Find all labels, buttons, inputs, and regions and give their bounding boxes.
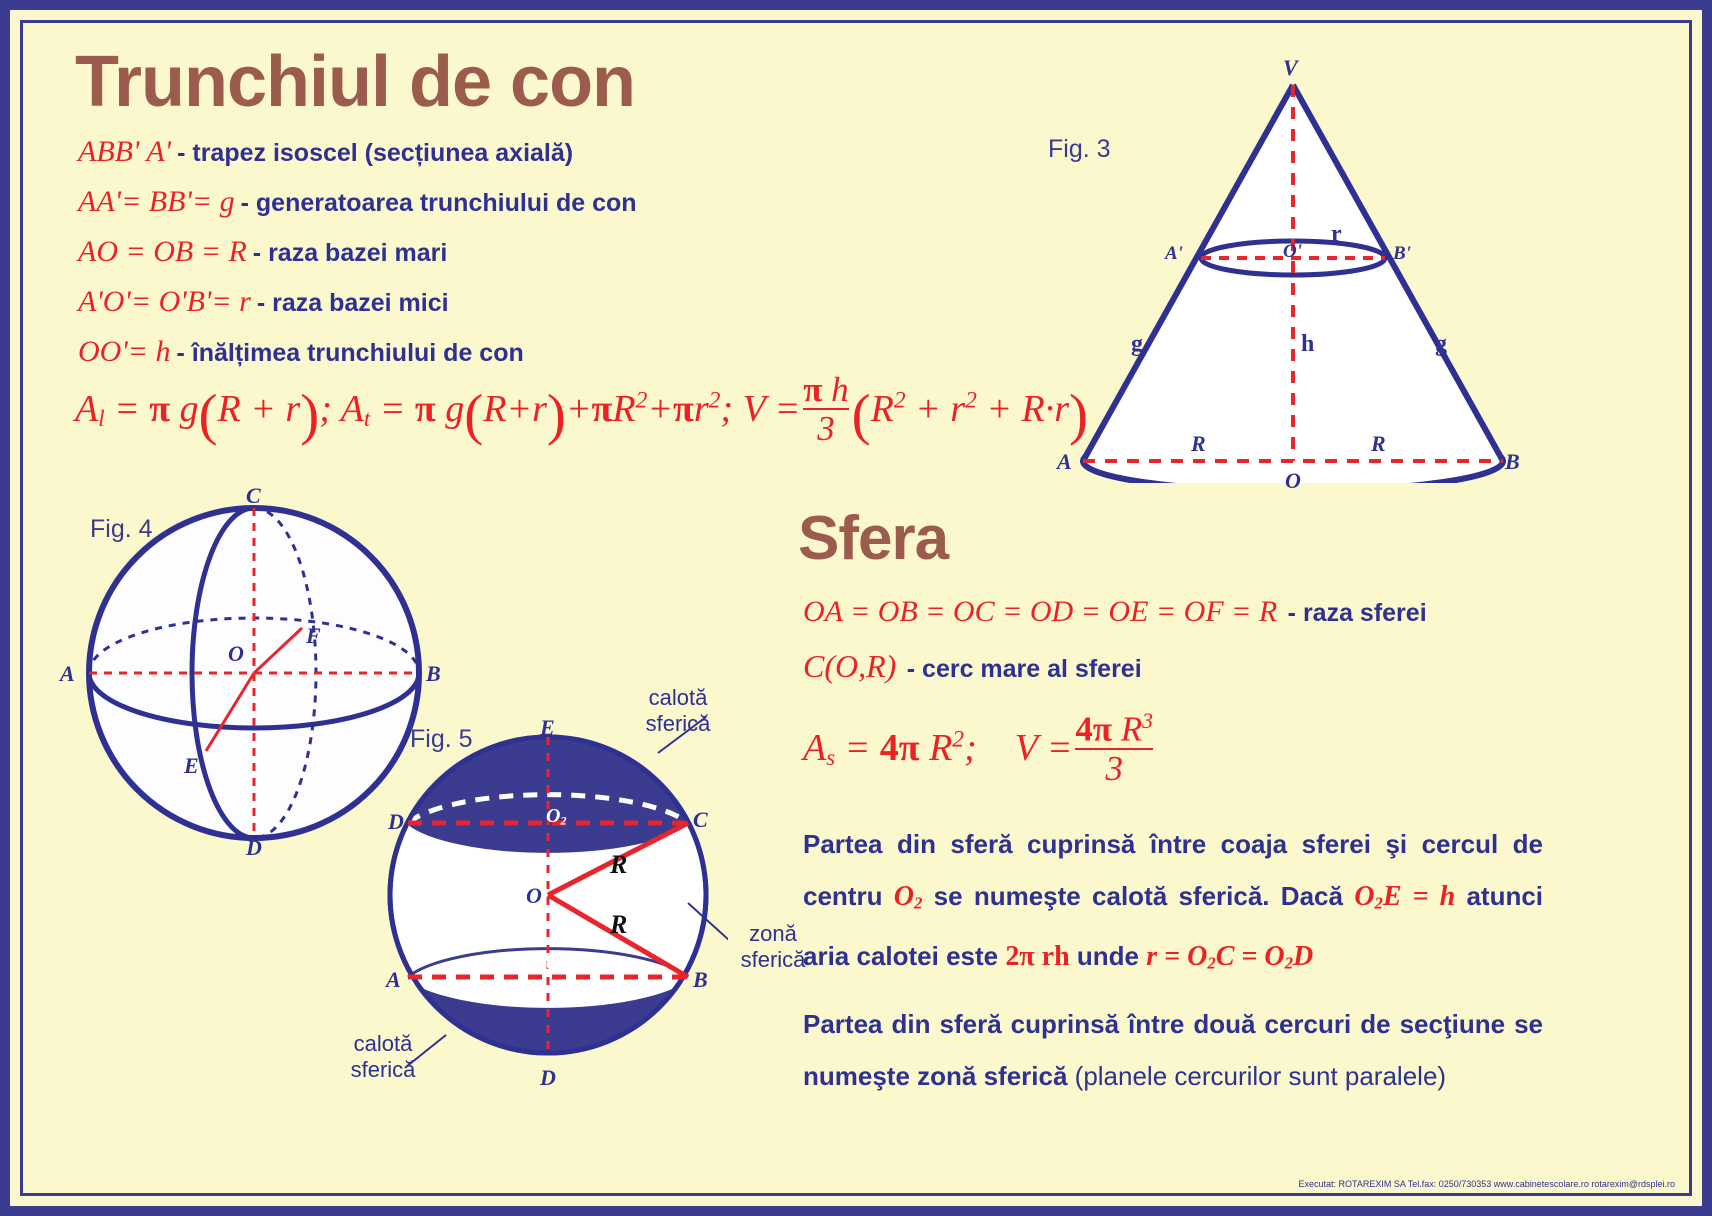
fig3-point-V: V	[1283, 55, 1298, 81]
figure-3-caption: Fig. 3	[1048, 135, 1111, 164]
formula-R-squared: R2	[612, 388, 647, 430]
formula-r: r	[532, 388, 547, 430]
definition-text: - raza bazei mari	[253, 239, 448, 268]
fig4-point-E: E	[184, 753, 199, 779]
footer-credit: Executat: ROTAREXIM SA Tel.fax: 0250/730…	[1299, 1179, 1675, 1189]
formula-paren: )	[300, 384, 319, 447]
fig3-point-B: B	[1505, 449, 1520, 475]
fig5-point-D-bottom: D	[540, 1065, 556, 1091]
fraction-numerator: 4π R3	[1075, 711, 1153, 748]
definition-symbol: A'O'= O'B'= r	[78, 285, 251, 319]
poster-frame: Trunchiul de con ABB' A' - trapez isosce…	[0, 0, 1712, 1216]
definition-symbol: OA = OB = OC = OD = OE = OF = R	[803, 595, 1277, 628]
fig5-point-O: O	[526, 883, 542, 909]
definition-item: A'O'= O'B'= r - raza bazei mici	[78, 285, 818, 335]
fig3-svg	[953, 43, 1513, 483]
annotation-line-2: sferică	[618, 711, 738, 737]
fig5-dim-R-lower: R	[610, 910, 627, 940]
fig3-dim-g-right: g	[1435, 331, 1447, 358]
formula-g: g	[180, 388, 199, 430]
sphere-formula: As = 4π R2; V =4π R33	[803, 713, 1156, 789]
definition-item: AO = OB = R - raza bazei mari	[78, 235, 818, 285]
formula-R: R	[218, 388, 241, 430]
definition-symbol: ABB' A'	[78, 135, 171, 169]
figure-4-caption: Fig. 4	[90, 515, 153, 544]
fig5-point-D-top: D	[388, 809, 404, 835]
formula-paren: )	[547, 384, 566, 447]
formula-g: g	[445, 388, 464, 430]
fig3-point-O-prime: O'	[1283, 241, 1302, 263]
formula-paren: (	[464, 384, 483, 447]
fraction-numerator: π h	[803, 373, 848, 408]
fig5-point-B: B	[693, 967, 708, 993]
paragraph-text-2: se numeşte calotă sferică. Dacă	[922, 881, 1354, 911]
inline-math-O2E-h: O2E = h	[1354, 881, 1455, 912]
definition-item: AA'= BB'= g - generatoarea trunchiului d…	[78, 185, 818, 235]
page-title-sphere: Sfera	[798, 503, 948, 574]
formula-V: V	[1015, 727, 1038, 769]
fig3-dim-g-left: g	[1131, 331, 1143, 358]
inline-math-r-O2C-O2D: r = O2C = O2D	[1146, 941, 1313, 972]
formula-fraction-4piR3-over-3: 4π R33	[1075, 711, 1153, 787]
formula-pi: π	[592, 388, 613, 430]
formula-eq: =	[775, 388, 801, 430]
formula-R-squared: R2	[929, 727, 964, 769]
formula-plus: +	[566, 388, 592, 430]
fig5-point-O1: O1	[546, 953, 566, 977]
formula-symbol-At: At	[341, 388, 371, 430]
formula-R-squared: R2	[871, 388, 906, 430]
fig3-point-O: O	[1285, 468, 1301, 494]
formula-eq: =	[845, 727, 871, 769]
definition-text: - înălțimea trunchiului de con	[177, 339, 524, 368]
paragraph-text-4: unde	[1070, 941, 1147, 971]
definition-text: - cerc mare al sferei	[907, 655, 1142, 683]
formula-semicolon: ;	[319, 388, 332, 430]
formula-V: V	[743, 388, 766, 430]
definition-symbol: C(O,R)	[803, 648, 896, 684]
annotation-calota-sferica-top: calotă sferică	[618, 685, 738, 737]
formula-plus: +	[647, 388, 673, 430]
figure-5-caption: Fig. 5	[410, 725, 473, 754]
annotation-line-1: calotă	[618, 685, 738, 711]
fig3-point-A-prime: A'	[1165, 243, 1183, 265]
cone-formula: Al = π g(R + r); At = π g(R+r)+πR2+πr2; …	[75, 375, 1088, 450]
formula-pi: π	[149, 388, 170, 430]
inline-math-O2: O2	[894, 881, 923, 912]
sphere-definition-radius: OA = OB = OC = OD = OE = OF = R - raza s…	[803, 595, 1427, 629]
fig4-point-F: F	[306, 623, 321, 649]
formula-r: r	[285, 388, 300, 430]
paragraph-text-2: (planele cercurilor sunt paralele)	[1075, 1061, 1446, 1091]
fig3-point-B-prime: B'	[1393, 243, 1411, 265]
formula-plus: +	[250, 388, 276, 430]
definition-symbol: AA'= BB'= g	[78, 185, 235, 219]
fig5-point-O2: O2	[546, 805, 566, 829]
fraction-denominator: 3	[1075, 748, 1153, 788]
fig4-point-A: A	[60, 661, 75, 687]
formula-semicolon: ;	[720, 388, 733, 430]
sphere-paragraph-zone: Partea din sferă cuprinsă între două cer…	[803, 998, 1543, 1102]
formula-symbol-Al: Al	[75, 388, 105, 430]
page-title-cone: Trunchiul de con	[75, 41, 635, 123]
definition-text: - trapez isoscel (secțiunea axială)	[177, 139, 573, 168]
definition-text: - raza sferei	[1288, 599, 1427, 627]
definition-symbol: AO = OB = R	[78, 235, 247, 269]
definition-symbol: OO'= h	[78, 335, 171, 369]
formula-paren: (	[852, 384, 871, 447]
fig3-dim-R-right: R	[1371, 431, 1386, 457]
formula-eq: =	[1047, 727, 1073, 769]
annotation-calota-sferica-bottom: calotă sferică	[328, 1031, 438, 1083]
formula-eq: =	[114, 388, 140, 430]
fig5-point-E: E	[540, 715, 555, 741]
sphere-paragraph-cap: Partea din sferă cuprinsă între coaja sf…	[803, 818, 1543, 989]
definition-text: - raza bazei mici	[257, 289, 449, 318]
fig3-dim-R-left: R	[1191, 431, 1206, 457]
fig4-point-O: O	[228, 641, 244, 667]
fig4-point-D: D	[246, 835, 262, 861]
formula-eq: =	[380, 388, 406, 430]
formula-fraction-pi-h-over-3: π h3	[803, 373, 848, 448]
fig3-point-A: A	[1057, 449, 1072, 475]
formula-pi: π	[415, 388, 436, 430]
definition-item: ABB' A' - trapez isoscel (secțiunea axia…	[78, 135, 818, 185]
formula-pi: π	[673, 388, 694, 430]
sphere-definition-great-circle: C(O,R) - cerc mare al sferei	[803, 648, 1142, 685]
formula-plus: +	[506, 388, 532, 430]
figure-3-cone: Fig. 3 V A' O' B' A O B r g h g R R	[953, 43, 1513, 483]
definition-text: - generatoarea trunchiului de con	[241, 189, 637, 218]
poster-inner: Trunchiul de con ABB' A' - trapez isosce…	[20, 20, 1692, 1196]
fig4-point-B: B	[426, 661, 441, 687]
formula-R: R	[483, 388, 506, 430]
cone-definition-list: ABB' A' - trapez isoscel (secțiunea axia…	[78, 135, 818, 385]
formula-r-squared: r2	[694, 388, 721, 430]
fig4-point-C: C	[246, 483, 261, 509]
fraction-denominator: 3	[803, 408, 848, 448]
annotation-line-1: calotă	[328, 1031, 438, 1057]
annotation-line-2: sferică	[328, 1057, 438, 1083]
formula-semicolon: ;	[964, 727, 977, 769]
formula-paren: (	[199, 384, 218, 447]
fig3-dim-r: r	[1331, 221, 1342, 248]
formula-plus: +	[915, 388, 941, 430]
formula-symbol-As: As	[803, 727, 835, 769]
fig5-point-A: A	[386, 967, 401, 993]
fig5-dim-R-upper: R	[610, 850, 627, 880]
fig3-dim-h: h	[1301, 331, 1314, 358]
formula-4pi: 4π	[880, 727, 920, 769]
inline-math-2pirh: 2π rh	[1005, 941, 1069, 972]
fig5-point-C: C	[693, 807, 708, 833]
